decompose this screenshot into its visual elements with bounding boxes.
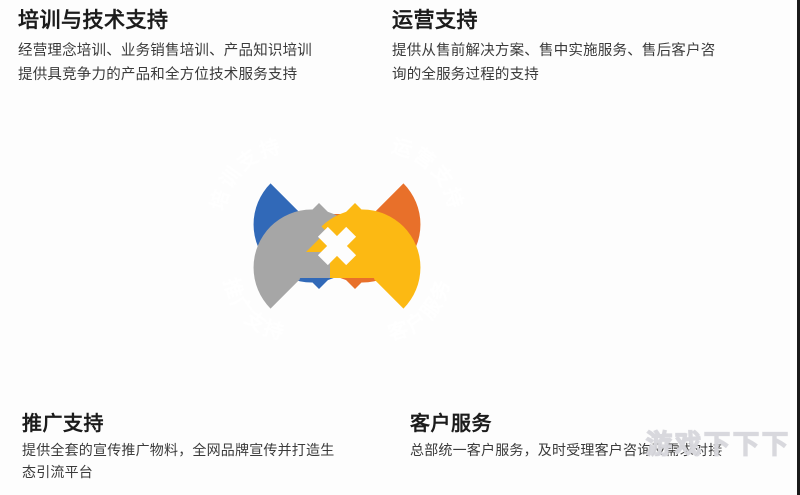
promotion-title: 推广支持 — [22, 412, 390, 437]
training-desc-line1: 经营理念培训、业务销售培训、产品知识培训 — [18, 40, 378, 64]
cycle-diagram: 培训支持 运营支持 推广支持 — [178, 98, 496, 394]
text-block-service: 客户服务 总部统一客户服务，及时受理客户咨询及需求对接 — [410, 412, 790, 461]
promotion-desc-line2: 态引流平台 — [22, 461, 390, 483]
service-title: 客户服务 — [410, 412, 790, 437]
operation-title: 运营支持 — [392, 8, 742, 34]
training-title: 培训与技术支持 — [18, 8, 378, 34]
service-desc-line1: 总部统一客户服务，及时受理客户咨询及需求对接 — [410, 439, 790, 461]
text-block-operation: 运营支持 提供从售前解决方案、售中实施服务、售后客户咨 询的全服务过程的支持 — [392, 8, 742, 88]
text-block-promotion: 推广支持 提供全套的宣传推广物料，全网品牌宣传并打造生 态引流平台 — [22, 412, 390, 484]
text-block-training: 培训与技术支持 经营理念培训、业务销售培训、产品知识培训 提供具竞争力的产品和全… — [18, 8, 378, 88]
operation-desc-line1: 提供从售前解决方案、售中实施服务、售后客户咨 — [392, 40, 742, 64]
infographic-page: 培训与技术支持 经营理念培训、业务销售培训、产品知识培训 提供具竞争力的产品和全… — [0, 0, 800, 495]
operation-desc-line2: 询的全服务过程的支持 — [392, 64, 742, 88]
promotion-desc-line1: 提供全套的宣传推广物料，全网品牌宣传并打造生 — [22, 439, 390, 461]
training-desc-line2: 提供具竞争力的产品和全方位技术服务支持 — [18, 64, 378, 88]
